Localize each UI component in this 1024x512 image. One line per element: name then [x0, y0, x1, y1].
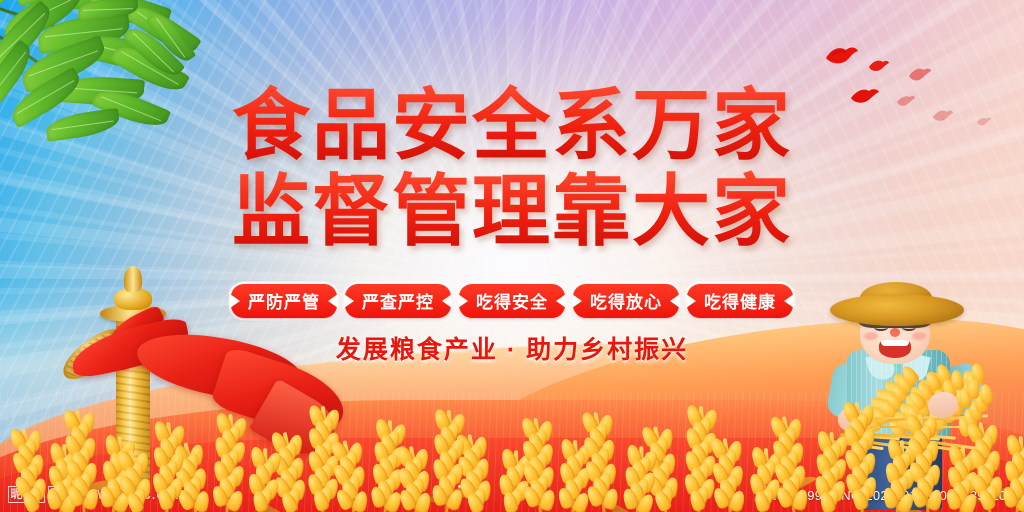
wheat-stalk — [620, 459, 657, 512]
dove-icon — [908, 66, 932, 83]
wheat-stalk — [710, 451, 746, 512]
sheaf-grain — [967, 379, 980, 399]
wheat-stalk — [117, 463, 154, 512]
wheat-stalk — [812, 445, 848, 512]
main-title-block: 食品安全系万家 食品安全系万家 监督管理靠大家 监督管理靠大家 — [0, 82, 1024, 254]
title-line-2-wrap: 监督管理靠大家 监督管理靠大家 — [232, 168, 792, 254]
title-line-1-wrap: 食品安全系万家 食品安全系万家 — [232, 82, 792, 168]
poster-canvas: 食品安全系万家 食品安全系万家 监督管理靠大家 监督管理靠大家 严防严管 严查严… — [0, 0, 1024, 512]
wheat-stalk — [1000, 449, 1024, 512]
dove-icon — [868, 58, 890, 74]
wheat-stalk — [63, 423, 100, 512]
wheat-stalk — [331, 453, 370, 512]
wheat-stalk — [397, 459, 432, 512]
sheaf-grain — [979, 383, 994, 405]
wheat-stalk — [210, 427, 247, 512]
wheat-stalk — [430, 424, 465, 512]
wheat-stalk — [581, 425, 619, 512]
wheat-stalk — [906, 427, 944, 512]
slogan-badge-row: 严防严管 严查严控 吃得安全 吃得放心 吃得健康 — [0, 284, 1024, 318]
title-line-1: 食品安全系万家 — [232, 82, 792, 168]
slogan-badge[interactable]: 吃得放心 — [573, 284, 679, 318]
wheat-stalk — [967, 435, 1006, 512]
slogan-badge[interactable]: 吃得安全 — [459, 284, 565, 318]
wheat-stalk — [244, 461, 281, 512]
wheat-stalk — [842, 416, 878, 512]
slogan-badge[interactable]: 吃得健康 — [687, 284, 793, 318]
slogan-badge[interactable]: 严查严控 — [345, 284, 451, 318]
wheat-stalk — [150, 435, 185, 512]
subtitle: 发展粮食产业 · 助力乡村振兴 — [0, 330, 1024, 366]
title-line-2: 监督管理靠大家 — [232, 168, 792, 254]
wheat-stalk — [10, 441, 50, 512]
slogan-badge[interactable]: 严防严管 — [231, 284, 337, 318]
wheat-stalk — [770, 429, 810, 512]
wheat-stalk — [521, 431, 556, 512]
dove-icon — [824, 44, 860, 68]
